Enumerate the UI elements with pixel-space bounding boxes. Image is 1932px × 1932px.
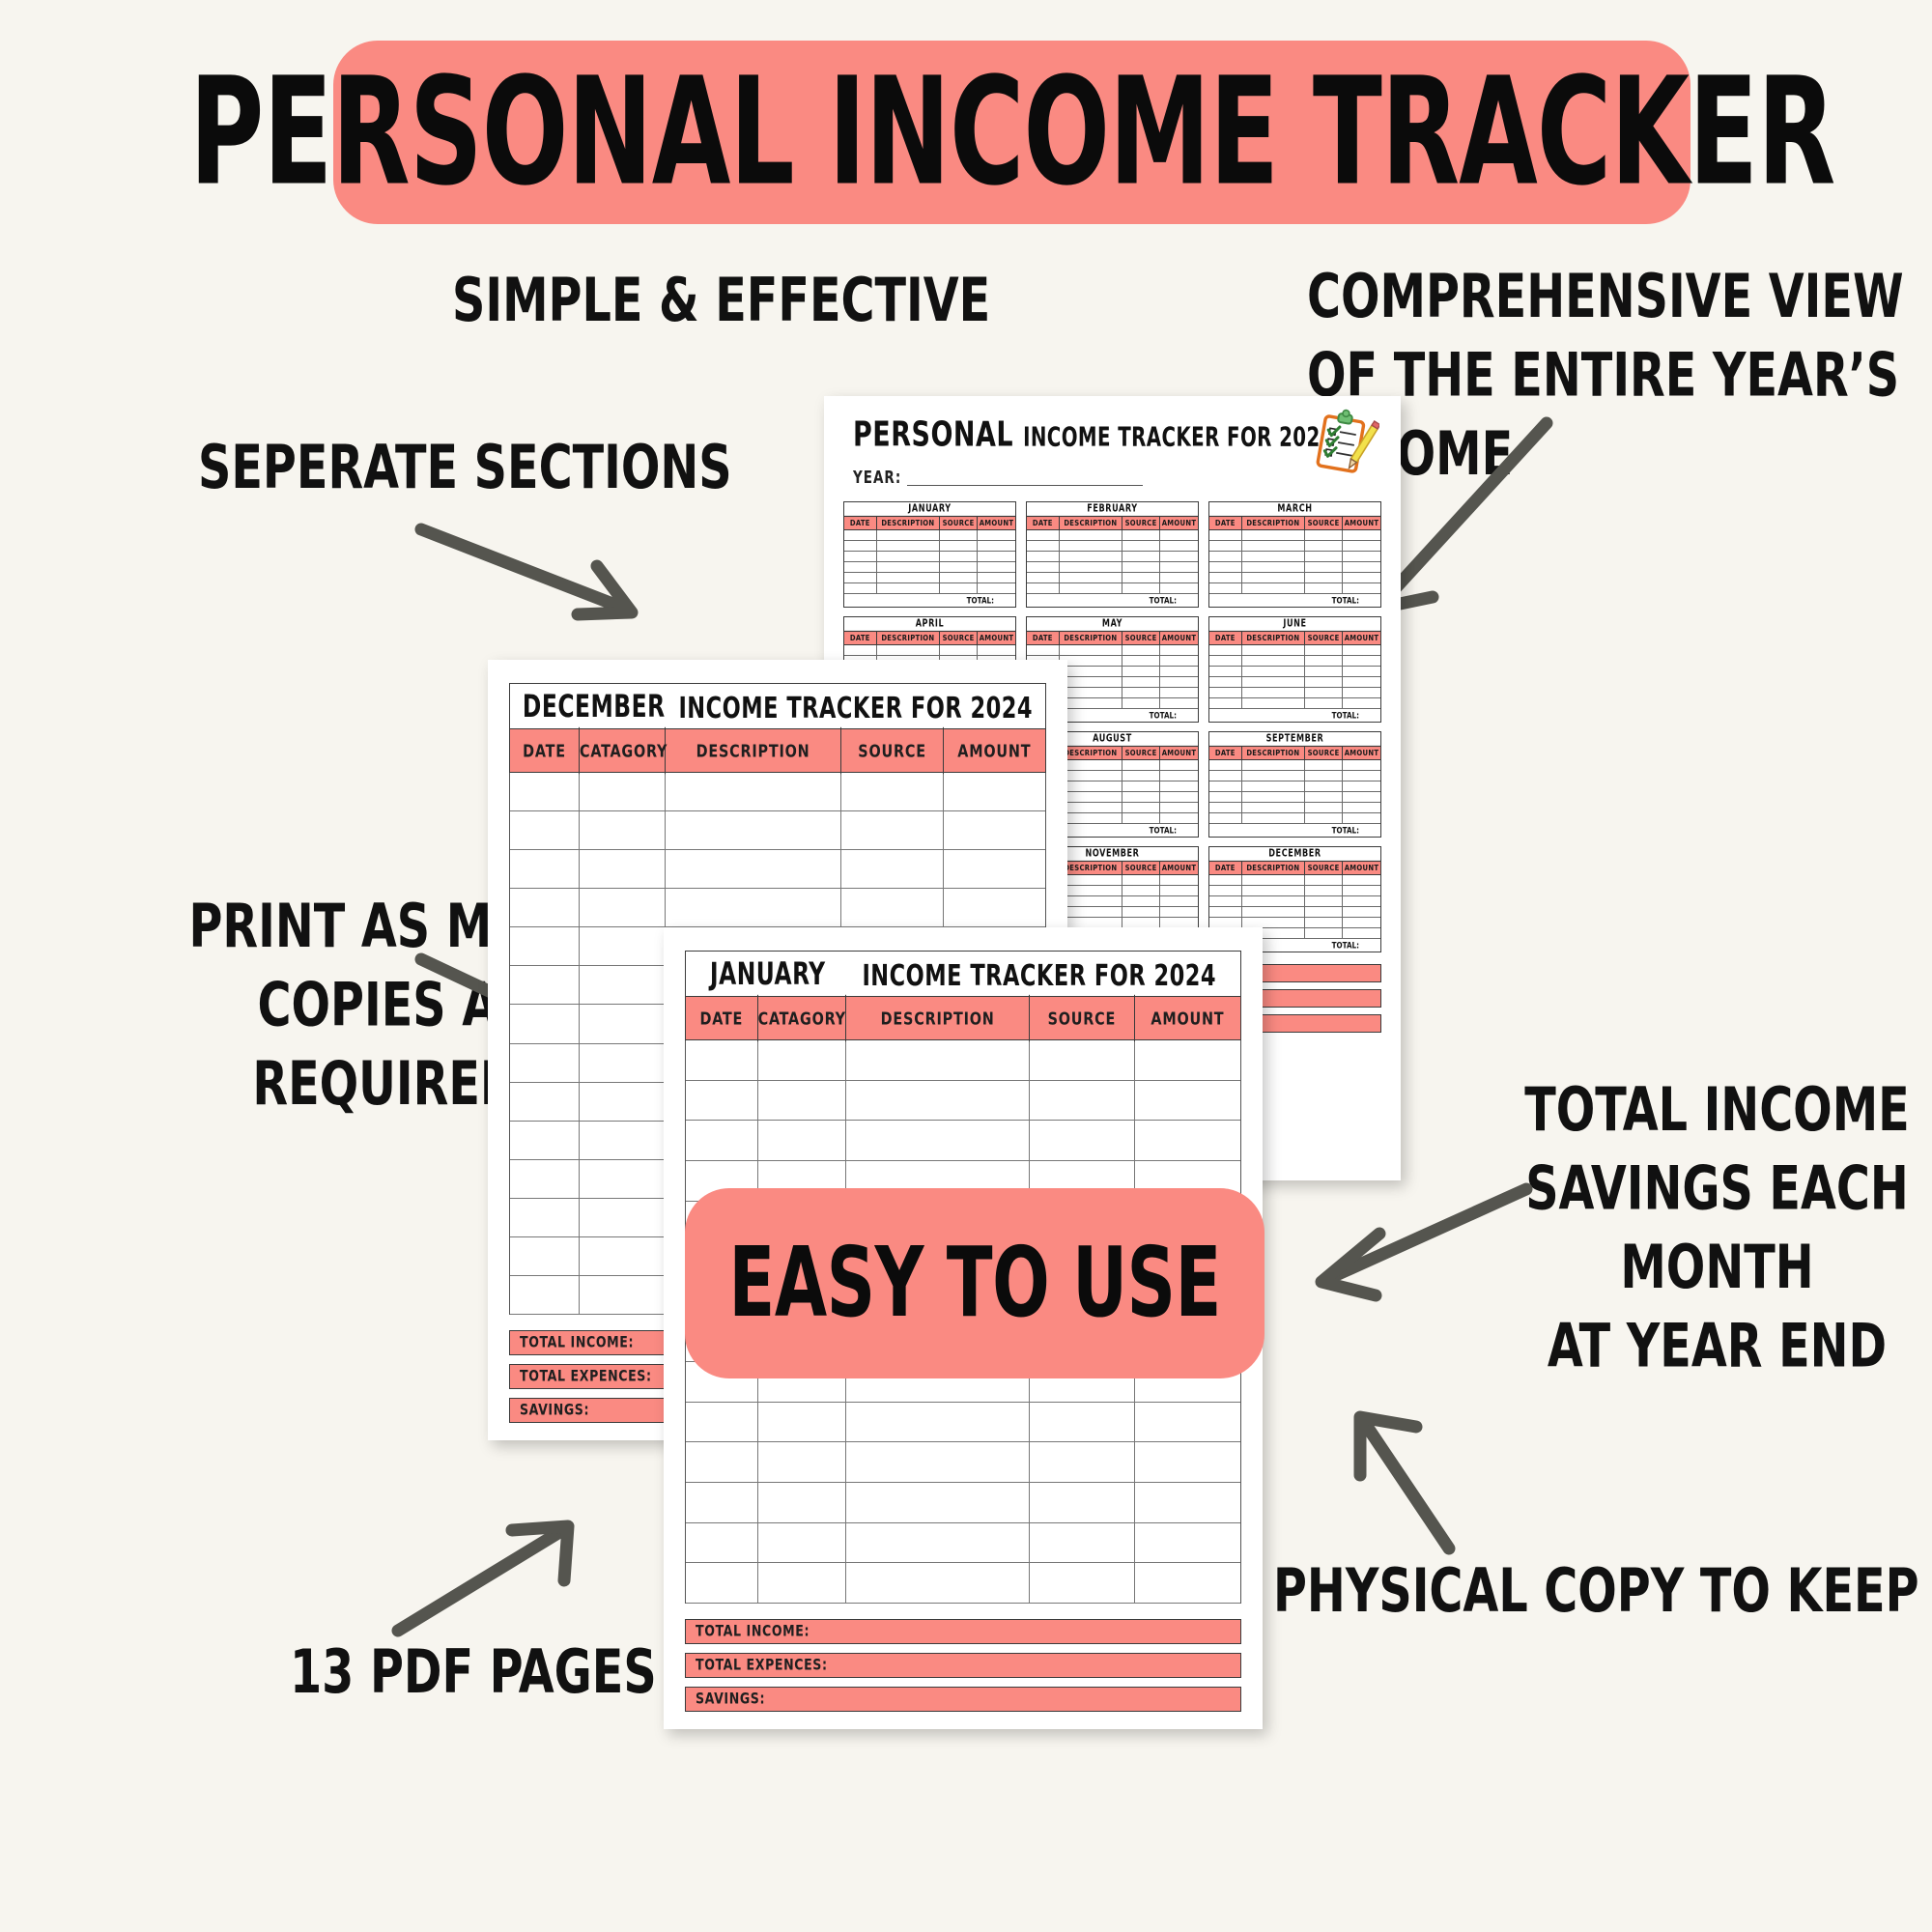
- january-table-cell[interactable]: [1135, 1403, 1240, 1442]
- mini-table-cell[interactable]: [1122, 803, 1160, 812]
- january-table-cell[interactable]: [686, 1121, 758, 1160]
- mini-table-cell[interactable]: [1122, 667, 1160, 676]
- january-table-cell[interactable]: [758, 1121, 847, 1160]
- mini-table-cell[interactable]: [1305, 698, 1343, 708]
- december-table-cell[interactable]: [666, 889, 842, 926]
- mini-table-cell[interactable]: [1122, 573, 1160, 582]
- mini-table-cell[interactable]: [844, 541, 877, 551]
- mini-table-cell[interactable]: [1209, 803, 1242, 812]
- mini-table-cell[interactable]: [1242, 886, 1305, 895]
- mini-table-row[interactable]: [1209, 781, 1380, 792]
- mini-table-cell[interactable]: [1122, 792, 1160, 802]
- january-table-cell[interactable]: [1135, 1483, 1240, 1522]
- mini-table-cell[interactable]: [1305, 552, 1343, 561]
- january-table-cell[interactable]: [758, 1403, 847, 1442]
- mini-table-cell[interactable]: [1160, 698, 1198, 708]
- mini-table-cell[interactable]: [1160, 760, 1198, 770]
- mini-table-cell[interactable]: [1209, 573, 1242, 582]
- mini-table-cell[interactable]: [1060, 677, 1122, 687]
- january-table-row[interactable]: [686, 1483, 1240, 1523]
- mini-table-cell[interactable]: [1122, 875, 1160, 885]
- mini-table-cell[interactable]: [1027, 645, 1060, 655]
- january-table-cell[interactable]: [758, 1483, 847, 1522]
- january-table-cell[interactable]: [1030, 1403, 1135, 1442]
- december-table-cell[interactable]: [666, 811, 842, 849]
- mini-table-cell[interactable]: [1343, 677, 1380, 687]
- mini-table-cell[interactable]: [1060, 562, 1122, 572]
- december-table-cell[interactable]: [510, 889, 580, 926]
- december-table-cell[interactable]: [580, 811, 666, 849]
- mini-table-cell[interactable]: [940, 562, 978, 572]
- mini-table-cell[interactable]: [940, 583, 978, 593]
- january-table-row[interactable]: [686, 1563, 1240, 1604]
- january-table-cell[interactable]: [846, 1040, 1029, 1080]
- mini-table-cell[interactable]: [1305, 573, 1343, 582]
- january-table-cell[interactable]: [1135, 1040, 1240, 1080]
- december-table-cell[interactable]: [580, 927, 666, 965]
- mini-table-cell[interactable]: [1122, 886, 1160, 895]
- mini-table-cell[interactable]: [1060, 698, 1122, 708]
- mini-table-cell[interactable]: [1343, 530, 1380, 540]
- december-table-cell[interactable]: [510, 966, 580, 1004]
- december-table-cell[interactable]: [510, 1237, 580, 1275]
- mini-table-cell[interactable]: [1343, 803, 1380, 812]
- mini-table-cell[interactable]: [1122, 907, 1160, 917]
- december-table-cell[interactable]: [666, 850, 842, 888]
- mini-table-cell[interactable]: [1305, 771, 1343, 781]
- mini-table-cell[interactable]: [1122, 918, 1160, 927]
- mini-table-row[interactable]: [844, 530, 1015, 541]
- mini-table-cell[interactable]: [1122, 781, 1160, 791]
- mini-table-cell[interactable]: [940, 552, 978, 561]
- january-table-cell[interactable]: [1030, 1040, 1135, 1080]
- mini-table-cell[interactable]: [1209, 583, 1242, 593]
- mini-table-cell[interactable]: [1160, 677, 1198, 687]
- mini-table-cell[interactable]: [1343, 656, 1380, 666]
- january-table-cell[interactable]: [758, 1563, 847, 1603]
- mini-table-cell[interactable]: [1343, 792, 1380, 802]
- december-table-cell[interactable]: [841, 850, 943, 888]
- mini-table-cell[interactable]: [844, 530, 877, 540]
- mini-table-cell[interactable]: [1305, 760, 1343, 770]
- mini-table-cell[interactable]: [1209, 771, 1242, 781]
- mini-table-cell[interactable]: [1343, 886, 1380, 895]
- mini-table-cell[interactable]: [1122, 688, 1160, 697]
- january-table-cell[interactable]: [846, 1081, 1029, 1121]
- mini-table-cell[interactable]: [1122, 896, 1160, 906]
- mini-table-cell[interactable]: [1060, 688, 1122, 697]
- mini-table-cell[interactable]: [1027, 573, 1060, 582]
- mini-table-cell[interactable]: [1160, 573, 1198, 582]
- mini-table-cell[interactable]: [1305, 677, 1343, 687]
- december-table-cell[interactable]: [580, 850, 666, 888]
- mini-table-cell[interactable]: [1160, 803, 1198, 812]
- mini-table-cell[interactable]: [1343, 583, 1380, 593]
- mini-table-cell[interactable]: [1209, 688, 1242, 697]
- january-table-cell[interactable]: [1030, 1483, 1135, 1522]
- january-table-cell[interactable]: [846, 1442, 1029, 1482]
- january-table-cell[interactable]: [758, 1081, 847, 1121]
- mini-table-cell[interactable]: [1305, 792, 1343, 802]
- mini-table-cell[interactable]: [1209, 875, 1242, 885]
- mini-table-cell[interactable]: [1305, 813, 1343, 823]
- december-table-cell[interactable]: [510, 1044, 580, 1082]
- mini-table-row[interactable]: [1209, 530, 1380, 541]
- mini-table-row[interactable]: [1027, 541, 1198, 552]
- mini-table-cell[interactable]: [1160, 907, 1198, 917]
- mini-table-row[interactable]: [1209, 896, 1380, 907]
- mini-table-cell[interactable]: [1122, 677, 1160, 687]
- mini-table-row[interactable]: [1027, 562, 1198, 573]
- december-table-cell[interactable]: [580, 1083, 666, 1121]
- mini-table-cell[interactable]: [1122, 552, 1160, 561]
- mini-table-cell[interactable]: [1343, 928, 1380, 938]
- mini-table-cell[interactable]: [1343, 698, 1380, 708]
- mini-table-cell[interactable]: [1160, 645, 1198, 655]
- mini-table-cell[interactable]: [1122, 698, 1160, 708]
- december-table-cell[interactable]: [510, 1083, 580, 1121]
- december-table-cell[interactable]: [580, 1276, 666, 1314]
- mini-table-cell[interactable]: [1343, 781, 1380, 791]
- mini-table-cell[interactable]: [1242, 656, 1305, 666]
- january-table-cell[interactable]: [758, 1523, 847, 1563]
- mini-table-row[interactable]: [1209, 886, 1380, 896]
- mini-table-cell[interactable]: [1060, 781, 1122, 791]
- mini-table-cell[interactable]: [1060, 530, 1122, 540]
- mini-table-cell[interactable]: [1160, 918, 1198, 927]
- mini-table-cell[interactable]: [940, 541, 978, 551]
- january-table-cell[interactable]: [1135, 1121, 1240, 1160]
- mini-table-cell[interactable]: [1160, 667, 1198, 676]
- mini-table-cell[interactable]: [1305, 907, 1343, 917]
- mini-table-cell[interactable]: [1209, 645, 1242, 655]
- mini-table-cell[interactable]: [1242, 781, 1305, 791]
- mini-table-cell[interactable]: [1343, 562, 1380, 572]
- december-table-row[interactable]: [510, 850, 1045, 889]
- december-table-cell[interactable]: [510, 927, 580, 965]
- mini-table-cell[interactable]: [1209, 781, 1242, 791]
- mini-table-cell[interactable]: [1242, 760, 1305, 770]
- december-table-cell[interactable]: [510, 1276, 580, 1314]
- mini-table-cell[interactable]: [1060, 792, 1122, 802]
- mini-month-table[interactable]: MARCHDATEDESCRIPTIONSOURCEAMOUNTTOTAL:: [1208, 501, 1381, 608]
- january-table-cell[interactable]: [1030, 1121, 1135, 1160]
- january-table-row[interactable]: [686, 1081, 1240, 1122]
- january-table-row[interactable]: [686, 1403, 1240, 1443]
- mini-table-cell[interactable]: [1160, 562, 1198, 572]
- mini-month-table[interactable]: SEPTEMBERDATEDESCRIPTIONSOURCEAMOUNTTOTA…: [1208, 731, 1381, 838]
- mini-table-cell[interactable]: [1209, 530, 1242, 540]
- mini-table-cell[interactable]: [1242, 896, 1305, 906]
- mini-table-cell[interactable]: [1122, 562, 1160, 572]
- mini-table-cell[interactable]: [1242, 541, 1305, 551]
- mini-table-cell[interactable]: [1343, 573, 1380, 582]
- december-table-cell[interactable]: [841, 889, 943, 926]
- mini-table-cell[interactable]: [1209, 656, 1242, 666]
- december-table-cell[interactable]: [580, 966, 666, 1004]
- mini-table-cell[interactable]: [1160, 552, 1198, 561]
- mini-table-row[interactable]: [1209, 541, 1380, 552]
- january-table-cell[interactable]: [686, 1442, 758, 1482]
- mini-table-cell[interactable]: [1242, 875, 1305, 885]
- mini-table-cell[interactable]: [1060, 541, 1122, 551]
- mini-table-cell[interactable]: [940, 645, 978, 655]
- mini-table-row[interactable]: [1209, 771, 1380, 781]
- mini-table-cell[interactable]: [877, 541, 940, 551]
- mini-table-cell[interactable]: [1242, 667, 1305, 676]
- mini-table-cell[interactable]: [940, 530, 978, 540]
- december-table-cell[interactable]: [580, 1160, 666, 1198]
- mini-table-row[interactable]: [1209, 552, 1380, 562]
- mini-table-cell[interactable]: [1305, 656, 1343, 666]
- mini-table-cell[interactable]: [1343, 760, 1380, 770]
- mini-table-cell[interactable]: [1060, 875, 1122, 885]
- mini-table-cell[interactable]: [877, 552, 940, 561]
- mini-table-cell[interactable]: [1160, 875, 1198, 885]
- january-table-cell[interactable]: [686, 1483, 758, 1522]
- january-table-cell[interactable]: [1030, 1081, 1135, 1121]
- mini-table-row[interactable]: [1209, 688, 1380, 698]
- january-table-row[interactable]: [686, 1040, 1240, 1081]
- mini-table-cell[interactable]: [1209, 541, 1242, 551]
- mini-table-cell[interactable]: [1343, 688, 1380, 697]
- december-table-cell[interactable]: [841, 773, 943, 810]
- mini-table-cell[interactable]: [1060, 573, 1122, 582]
- january-table-cell[interactable]: [758, 1442, 847, 1482]
- january-table-cell[interactable]: [846, 1121, 1029, 1160]
- mini-table-cell[interactable]: [1209, 677, 1242, 687]
- mini-table-cell[interactable]: [1160, 896, 1198, 906]
- year-input-line[interactable]: [907, 470, 1143, 486]
- january-table-cell[interactable]: [758, 1040, 847, 1080]
- december-table-cell[interactable]: [944, 773, 1045, 810]
- mini-table-row[interactable]: [1027, 552, 1198, 562]
- mini-table-row[interactable]: [1209, 760, 1380, 771]
- mini-table-cell[interactable]: [1242, 677, 1305, 687]
- mini-table-cell[interactable]: [1242, 573, 1305, 582]
- mini-table-cell[interactable]: [844, 645, 877, 655]
- mini-table-cell[interactable]: [844, 552, 877, 561]
- december-table-cell[interactable]: [944, 889, 1045, 926]
- mini-table-cell[interactable]: [1160, 771, 1198, 781]
- mini-table-cell[interactable]: [1060, 896, 1122, 906]
- mini-table-cell[interactable]: [940, 573, 978, 582]
- mini-month-table[interactable]: FEBRUARYDATEDESCRIPTIONSOURCEAMOUNTTOTAL…: [1026, 501, 1199, 608]
- mini-table-cell[interactable]: [1027, 530, 1060, 540]
- mini-month-table[interactable]: JANUARYDATEDESCRIPTIONSOURCEAMOUNTTOTAL:: [843, 501, 1016, 608]
- december-table-row[interactable]: [510, 889, 1045, 927]
- mini-table-cell[interactable]: [1209, 698, 1242, 708]
- mini-table-cell[interactable]: [1060, 803, 1122, 812]
- mini-table-cell[interactable]: [1242, 803, 1305, 812]
- mini-table-cell[interactable]: [1160, 792, 1198, 802]
- mini-table-cell[interactable]: [1343, 541, 1380, 551]
- mini-table-cell[interactable]: [1242, 918, 1305, 927]
- mini-table-cell[interactable]: [1305, 896, 1343, 906]
- mini-table-cell[interactable]: [1209, 760, 1242, 770]
- mini-table-cell[interactable]: [978, 530, 1015, 540]
- january-table-cell[interactable]: [846, 1403, 1029, 1442]
- mini-table-cell[interactable]: [978, 552, 1015, 561]
- mini-table-cell[interactable]: [1242, 688, 1305, 697]
- mini-table-cell[interactable]: [1305, 875, 1343, 885]
- mini-table-cell[interactable]: [1060, 667, 1122, 676]
- january-table-cell[interactable]: [686, 1040, 758, 1080]
- mini-table-row[interactable]: [844, 645, 1015, 656]
- december-table-cell[interactable]: [944, 811, 1045, 849]
- mini-table-row[interactable]: [1209, 677, 1380, 688]
- december-table-cell[interactable]: [580, 1122, 666, 1159]
- mini-table-row[interactable]: [1027, 530, 1198, 541]
- mini-table-cell[interactable]: [1242, 645, 1305, 655]
- january-table-cell[interactable]: [1030, 1523, 1135, 1563]
- mini-table-cell[interactable]: [978, 573, 1015, 582]
- mini-table-cell[interactable]: [1209, 792, 1242, 802]
- december-table-cell[interactable]: [580, 1005, 666, 1042]
- december-table-cell[interactable]: [510, 1122, 580, 1159]
- mini-table-cell[interactable]: [1060, 918, 1122, 927]
- mini-table-row[interactable]: [1209, 562, 1380, 573]
- mini-table-cell[interactable]: [1122, 813, 1160, 823]
- mini-table-cell[interactable]: [1343, 667, 1380, 676]
- mini-table-cell[interactable]: [1343, 918, 1380, 927]
- mini-table-cell[interactable]: [1305, 886, 1343, 895]
- january-table-cell[interactable]: [1135, 1563, 1240, 1603]
- mini-table-cell[interactable]: [1027, 552, 1060, 561]
- mini-table-cell[interactable]: [1160, 886, 1198, 895]
- december-table-cell[interactable]: [841, 811, 943, 849]
- mini-table-cell[interactable]: [1305, 562, 1343, 572]
- mini-table-cell[interactable]: [1060, 656, 1122, 666]
- mini-table-cell[interactable]: [1242, 530, 1305, 540]
- mini-table-cell[interactable]: [1343, 907, 1380, 917]
- mini-table-cell[interactable]: [1160, 541, 1198, 551]
- january-table-cell[interactable]: [686, 1403, 758, 1442]
- mini-table-cell[interactable]: [1209, 886, 1242, 895]
- january-table-row[interactable]: [686, 1121, 1240, 1161]
- december-table-cell[interactable]: [666, 773, 842, 810]
- mini-table-cell[interactable]: [1209, 552, 1242, 561]
- mini-table-cell[interactable]: [1305, 688, 1343, 697]
- mini-table-cell[interactable]: [1242, 771, 1305, 781]
- mini-table-cell[interactable]: [1242, 552, 1305, 561]
- january-table-cell[interactable]: [686, 1081, 758, 1121]
- mini-table-cell[interactable]: [978, 562, 1015, 572]
- mini-table-cell[interactable]: [1305, 583, 1343, 593]
- mini-table-row[interactable]: [844, 552, 1015, 562]
- mini-table-cell[interactable]: [978, 583, 1015, 593]
- mini-table-cell[interactable]: [978, 645, 1015, 655]
- january-table-cell[interactable]: [1135, 1523, 1240, 1563]
- mini-table-cell[interactable]: [1242, 583, 1305, 593]
- december-table-cell[interactable]: [510, 811, 580, 849]
- mini-table-row[interactable]: [1209, 875, 1380, 886]
- mini-table-cell[interactable]: [1209, 562, 1242, 572]
- mini-table-cell[interactable]: [1343, 645, 1380, 655]
- january-table-cell[interactable]: [1030, 1442, 1135, 1482]
- january-table-cell[interactable]: [686, 1563, 758, 1603]
- december-table-row[interactable]: [510, 773, 1045, 811]
- mini-table-cell[interactable]: [1060, 760, 1122, 770]
- mini-table-row[interactable]: [1209, 573, 1380, 583]
- mini-table-cell[interactable]: [1343, 813, 1380, 823]
- mini-table-cell[interactable]: [1343, 771, 1380, 781]
- december-table-cell[interactable]: [580, 889, 666, 926]
- december-table-cell[interactable]: [944, 850, 1045, 888]
- mini-table-cell[interactable]: [1305, 918, 1343, 927]
- mini-table-cell[interactable]: [1305, 781, 1343, 791]
- mini-table-cell[interactable]: [1242, 562, 1305, 572]
- mini-table-cell[interactable]: [877, 573, 940, 582]
- mini-table-cell[interactable]: [1209, 896, 1242, 906]
- mini-table-row[interactable]: [844, 541, 1015, 552]
- mini-table-cell[interactable]: [1209, 813, 1242, 823]
- mini-table-cell[interactable]: [1209, 907, 1242, 917]
- mini-table-cell[interactable]: [1060, 552, 1122, 561]
- december-table-cell[interactable]: [510, 1005, 580, 1042]
- mini-table-cell[interactable]: [1343, 552, 1380, 561]
- january-table-cell[interactable]: [846, 1483, 1029, 1522]
- january-summary-bar[interactable]: TOTAL INCOME:: [685, 1619, 1241, 1644]
- mini-table-cell[interactable]: [1122, 771, 1160, 781]
- mini-month-table[interactable]: JUNEDATEDESCRIPTIONSOURCEAMOUNTTOTAL:: [1208, 616, 1381, 723]
- mini-table-cell[interactable]: [1027, 562, 1060, 572]
- mini-table-cell[interactable]: [1122, 583, 1160, 593]
- mini-table-row[interactable]: [1209, 645, 1380, 656]
- mini-table-cell[interactable]: [1122, 760, 1160, 770]
- december-table-cell[interactable]: [510, 1160, 580, 1198]
- mini-table-cell[interactable]: [1305, 645, 1343, 655]
- december-table-cell[interactable]: [510, 850, 580, 888]
- mini-table-cell[interactable]: [1242, 698, 1305, 708]
- mini-table-cell[interactable]: [1209, 667, 1242, 676]
- december-table-cell[interactable]: [580, 1199, 666, 1236]
- mini-table-row[interactable]: [844, 562, 1015, 573]
- january-summary-bar[interactable]: SAVINGS:: [685, 1687, 1241, 1712]
- december-table-cell[interactable]: [580, 773, 666, 810]
- mini-table-cell[interactable]: [1242, 907, 1305, 917]
- mini-table-row[interactable]: [1209, 792, 1380, 803]
- mini-table-cell[interactable]: [1305, 530, 1343, 540]
- mini-table-cell[interactable]: [1242, 792, 1305, 802]
- december-table-row[interactable]: [510, 811, 1045, 850]
- mini-table-cell[interactable]: [844, 573, 877, 582]
- december-table-cell[interactable]: [580, 1237, 666, 1275]
- mini-table-cell[interactable]: [877, 645, 940, 655]
- mini-table-cell[interactable]: [1122, 645, 1160, 655]
- mini-table-cell[interactable]: [877, 530, 940, 540]
- mini-table-cell[interactable]: [1305, 667, 1343, 676]
- january-table-cell[interactable]: [846, 1563, 1029, 1603]
- january-table-cell[interactable]: [686, 1523, 758, 1563]
- mini-table-cell[interactable]: [978, 541, 1015, 551]
- mini-table-cell[interactable]: [1122, 656, 1160, 666]
- december-table-cell[interactable]: [510, 773, 580, 810]
- january-table-cell[interactable]: [1135, 1081, 1240, 1121]
- january-table-row[interactable]: [686, 1442, 1240, 1483]
- mini-table-cell[interactable]: [1305, 928, 1343, 938]
- mini-table-cell[interactable]: [1060, 645, 1122, 655]
- mini-table-cell[interactable]: [1060, 813, 1122, 823]
- december-table-cell[interactable]: [510, 1199, 580, 1236]
- january-table-cell[interactable]: [1135, 1442, 1240, 1482]
- january-table-cell[interactable]: [1030, 1563, 1135, 1603]
- mini-table-cell[interactable]: [1242, 813, 1305, 823]
- january-table-cell[interactable]: [846, 1523, 1029, 1563]
- mini-table-cell[interactable]: [1060, 583, 1122, 593]
- mini-table-cell[interactable]: [1060, 886, 1122, 895]
- mini-table-cell[interactable]: [1160, 656, 1198, 666]
